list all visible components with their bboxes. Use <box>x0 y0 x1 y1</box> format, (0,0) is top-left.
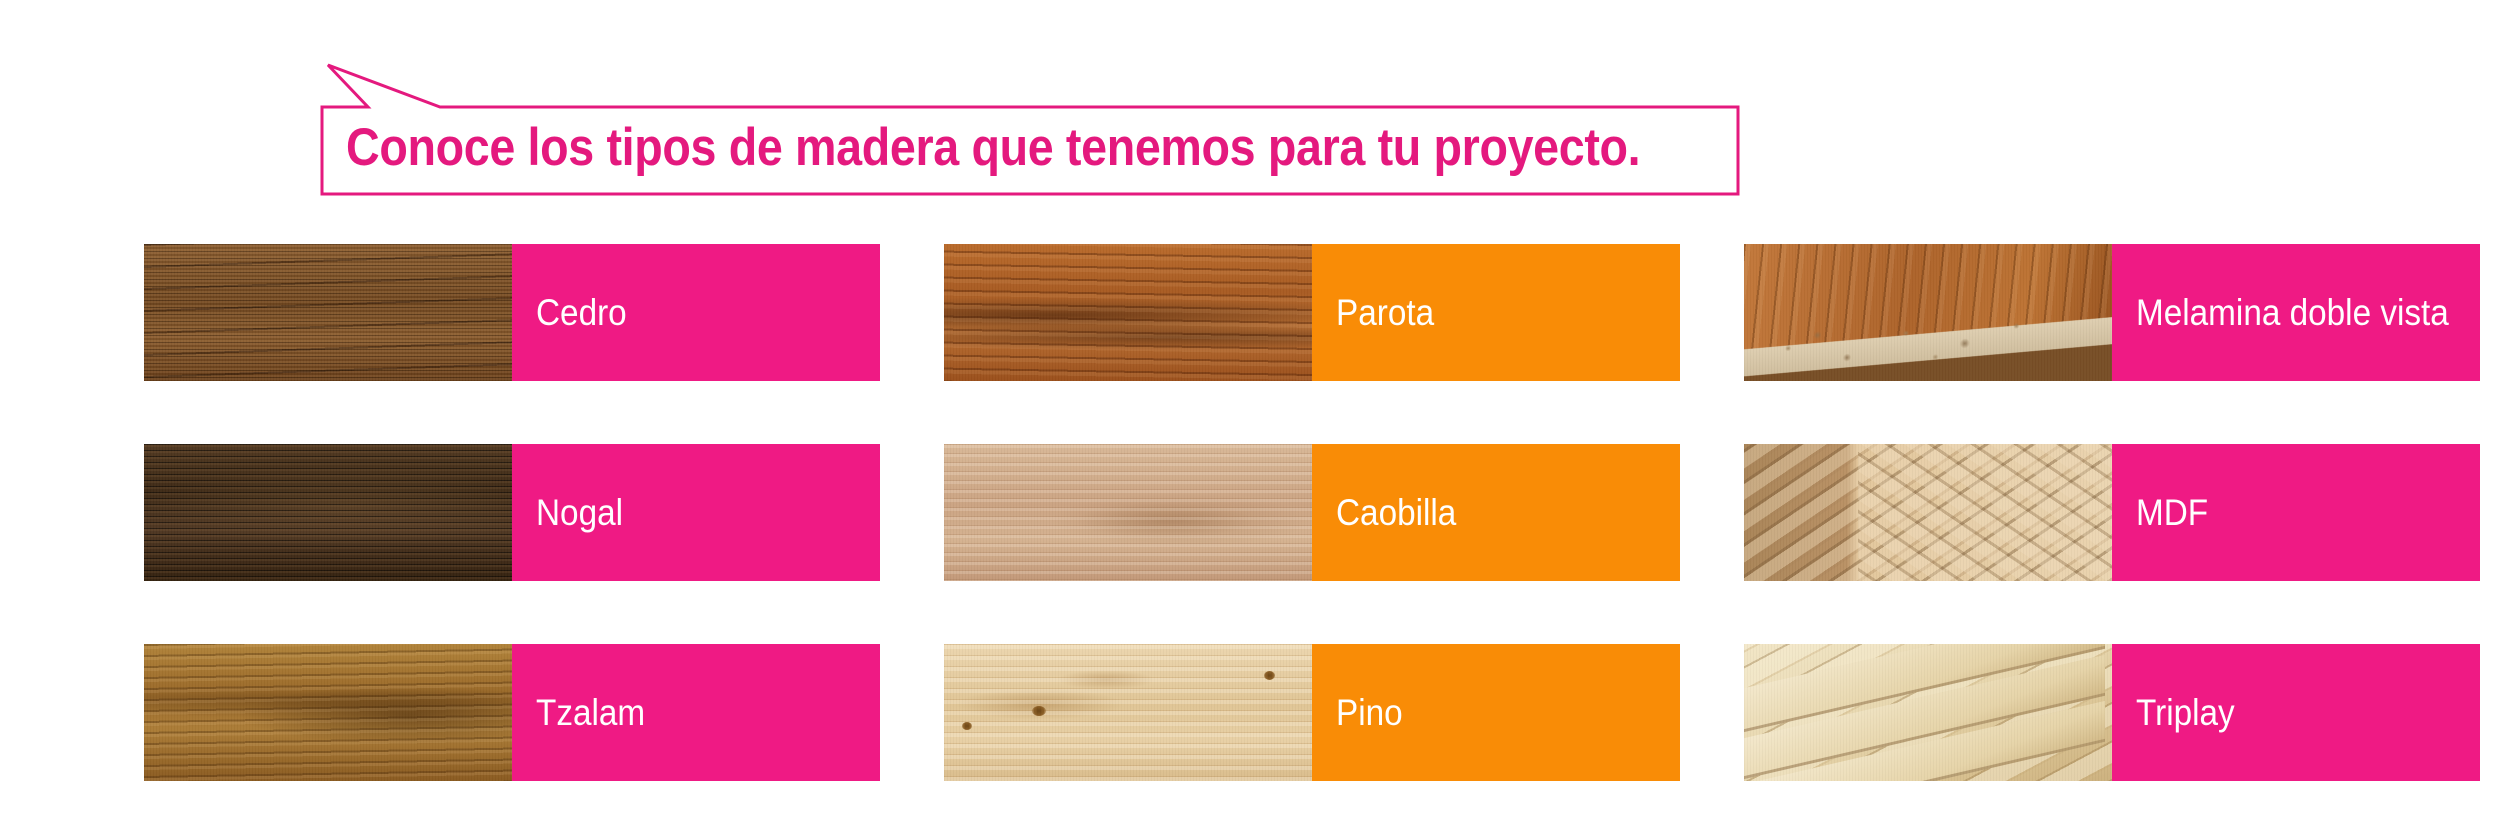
material-card-caobilla[interactable]: Caobilla <box>944 444 1680 581</box>
particle-board-edge <box>1744 301 2112 381</box>
material-card-cedro[interactable]: Cedro <box>144 244 880 381</box>
wood-swatch-tzalam <box>144 644 512 781</box>
headline-speech-bubble: Conoce los tipos de madera que tenemos p… <box>320 63 1740 196</box>
grain-overlay <box>944 644 1312 781</box>
material-label-block: Cedro <box>512 244 880 381</box>
wood-swatch-parota <box>944 244 1312 381</box>
material-name: MDF <box>2136 492 2208 534</box>
wood-swatch-triplay <box>1744 644 2112 781</box>
wood-swatch-nogal <box>144 444 512 581</box>
grain-overlay <box>144 244 512 381</box>
material-name: Parota <box>1336 292 1434 334</box>
wood-swatch-caobilla <box>944 444 1312 581</box>
material-label-block: Melamina doble vista <box>2112 244 2480 381</box>
material-card-parota[interactable]: Parota <box>944 244 1680 381</box>
grain-overlay <box>144 444 512 581</box>
material-label-block: Parota <box>1312 244 1680 381</box>
wood-swatch-mdf <box>1744 444 2112 581</box>
materials-grid: Cedro Parota Melamina doble vista Nogal <box>144 244 2480 781</box>
material-card-nogal[interactable]: Nogal <box>144 444 880 581</box>
material-label-block: Triplay <box>2112 644 2480 781</box>
material-card-triplay[interactable]: Triplay <box>1744 644 2480 781</box>
material-name: Pino <box>1336 692 1403 734</box>
grain-overlay <box>144 644 512 781</box>
wood-swatch-melamina <box>1744 244 2112 381</box>
wood-swatch-cedro <box>144 244 512 381</box>
material-name: Triplay <box>2136 692 2235 734</box>
material-label-block: Pino <box>1312 644 1680 781</box>
fiberboard-face <box>1744 444 2112 581</box>
wood-knot <box>1264 671 1275 680</box>
material-label-block: Caobilla <box>1312 444 1680 581</box>
wood-knot <box>962 722 972 730</box>
material-name: Melamina doble vista <box>2136 292 2449 334</box>
material-name: Cedro <box>536 292 627 334</box>
material-name: Nogal <box>536 492 623 534</box>
grain-overlay <box>944 444 1312 581</box>
page-title: Conoce los tipos de madera que tenemos p… <box>346 109 1564 185</box>
wood-swatch-pino <box>944 644 1312 781</box>
material-label-block: Nogal <box>512 444 880 581</box>
grain-overlay <box>944 244 1312 381</box>
wood-knot <box>1032 706 1046 716</box>
material-card-mdf[interactable]: MDF <box>1744 444 2480 581</box>
material-card-melamina-doble-vista[interactable]: Melamina doble vista <box>1744 244 2480 381</box>
material-name: Tzalam <box>536 692 645 734</box>
material-label-block: Tzalam <box>512 644 880 781</box>
material-name: Caobilla <box>1336 492 1456 534</box>
material-label-block: MDF <box>2112 444 2480 581</box>
material-card-pino[interactable]: Pino <box>944 644 1680 781</box>
material-card-tzalam[interactable]: Tzalam <box>144 644 880 781</box>
